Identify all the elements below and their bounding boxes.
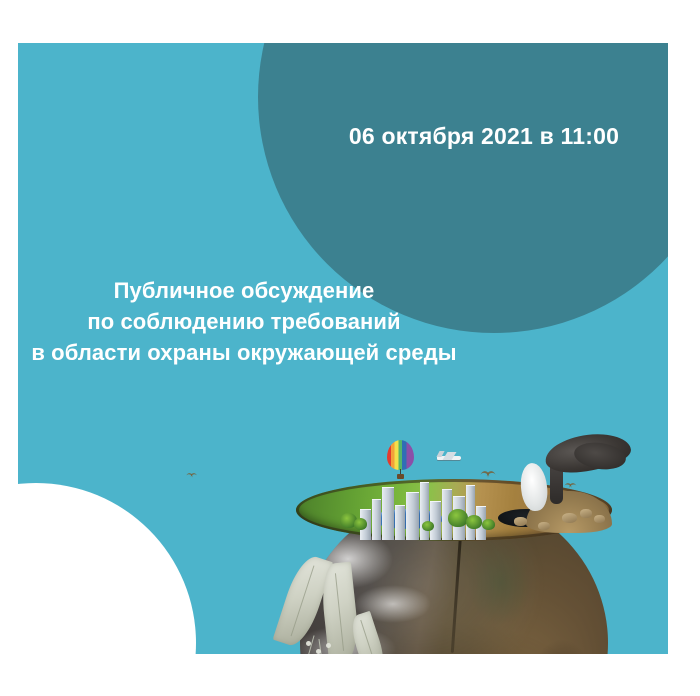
- tree-icon: [448, 509, 468, 527]
- bud-icon: [316, 649, 321, 654]
- steam-cloud-icon: [519, 462, 550, 512]
- rock-icon: [580, 509, 592, 518]
- globe-shading: [300, 493, 608, 654]
- rock-icon: [538, 522, 550, 530]
- ground-rim: [296, 479, 612, 541]
- poster-title-line-3: в области охраны окружающей среды: [18, 337, 470, 368]
- balloon-envelope: [387, 440, 414, 470]
- airplane-body: [437, 456, 461, 460]
- balloon-basket: [397, 474, 404, 479]
- rock-icon: [594, 515, 605, 523]
- tree-icon: [354, 518, 367, 530]
- dark-pit-icon: [498, 509, 554, 527]
- decorative-white-circle: [18, 483, 196, 654]
- event-date: 06 октября 2021 в 11:00: [348, 121, 620, 151]
- airplane-tail: [436, 451, 444, 457]
- poster-canvas: 06 октября 2021 в 11:00 Публичное обсужд…: [0, 0, 700, 696]
- sprig-icon: [306, 635, 314, 654]
- smoke-column-icon: [550, 458, 563, 504]
- smoke-cloud-icon: [543, 430, 633, 476]
- smoke-cloud-icon: [572, 440, 627, 473]
- leaf-vein: [335, 573, 344, 651]
- tree-icon: [340, 513, 357, 528]
- earth-hemisphere: [300, 493, 608, 654]
- hot-air-balloon-icon: [387, 440, 414, 480]
- balloon-rope: [400, 469, 401, 475]
- earth-crack: [450, 503, 463, 653]
- bud-icon: [326, 643, 331, 648]
- tree-icon: [422, 521, 434, 531]
- event-date-line-1: 06 октября 2021: [349, 123, 533, 149]
- poster-title-line-1: Публичное обсуждение: [18, 275, 470, 306]
- bud-icon: [306, 641, 311, 646]
- leaf-icon: [273, 552, 334, 650]
- poster-panel: 06 октября 2021 в 11:00 Публичное обсужд…: [18, 43, 668, 654]
- tree-icon: [466, 515, 482, 529]
- poster-title-line-2: по соблюдению требований: [18, 306, 470, 337]
- event-date-line-2: в 11:00: [540, 123, 620, 149]
- sprig-icon: [318, 639, 322, 654]
- rock-icon: [562, 513, 577, 523]
- leaf-vein: [291, 566, 315, 636]
- airplane-wing: [443, 452, 457, 460]
- airplane-icon: [437, 451, 461, 463]
- ground-surface: [296, 479, 612, 541]
- leaf-vein: [360, 620, 376, 654]
- tree-icon: [482, 519, 495, 530]
- city-skyline-icon: [358, 480, 488, 540]
- leaf-icon: [319, 562, 361, 654]
- leaf-icon: [347, 611, 389, 654]
- poster-title: Публичное обсуждение по соблюдению требо…: [18, 275, 470, 368]
- lake-icon: [373, 509, 443, 529]
- globe-sphere-icon: [300, 493, 608, 654]
- rock-icon: [514, 517, 527, 526]
- volcano-mound-icon: [526, 491, 612, 533]
